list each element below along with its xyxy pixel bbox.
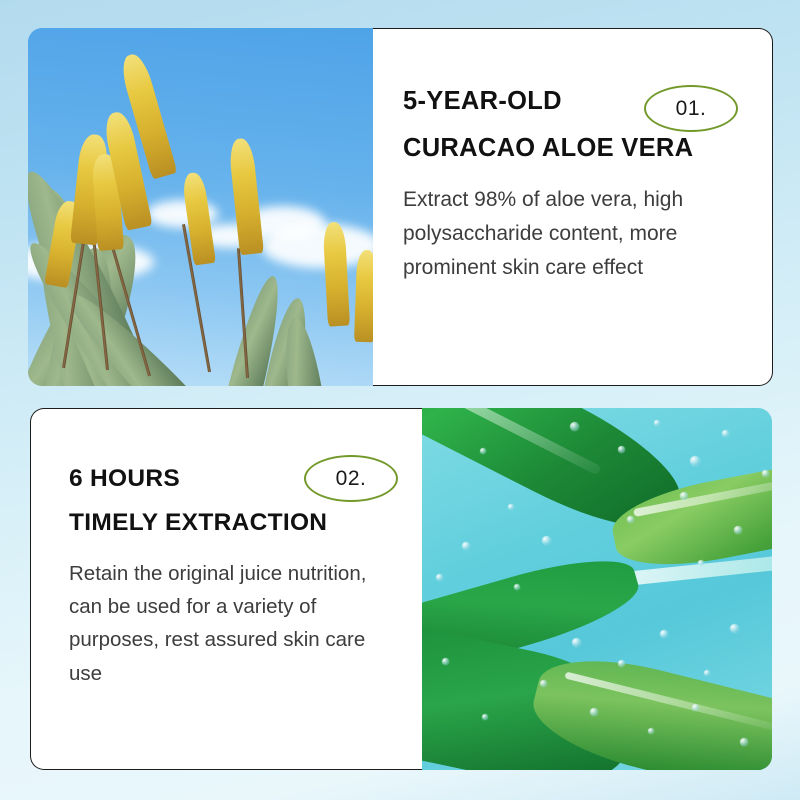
water-droplet xyxy=(540,680,547,687)
water-droplet xyxy=(722,430,729,437)
water-droplet xyxy=(590,708,598,716)
water-droplet xyxy=(618,446,625,453)
water-droplet xyxy=(482,714,488,720)
water-droplet xyxy=(572,638,581,647)
water-droplet xyxy=(442,658,449,665)
card-heading-line-2: TIMELY EXTRACTION xyxy=(69,511,402,536)
aloe-flower-spike xyxy=(354,250,373,343)
water-droplet xyxy=(762,470,769,477)
water-droplet xyxy=(480,448,486,454)
feature-card-01: 01. 5-YEAR-OLD CURACAO ALOE VERA Extract… xyxy=(28,28,773,386)
card-heading-line-2: CURACAO ALOE VERA xyxy=(403,136,738,162)
water-droplet xyxy=(704,670,710,676)
water-droplet xyxy=(654,420,660,426)
water-droplet xyxy=(618,660,625,667)
water-droplet xyxy=(740,738,748,746)
water-droplet xyxy=(730,624,739,633)
water-droplet xyxy=(627,516,634,523)
water-droplet xyxy=(690,456,700,466)
water-droplet xyxy=(734,526,742,534)
feature-text-panel-01: 01. 5-YEAR-OLD CURACAO ALOE VERA Extract… xyxy=(373,28,773,386)
step-number-badge: 02. xyxy=(304,455,398,502)
card-body-text: Extract 98% of aloe vera, high polysacch… xyxy=(403,183,733,285)
water-droplet xyxy=(542,536,551,545)
water-droplet xyxy=(680,492,688,500)
feature-text-panel-02: 02. 6 HOURS TIMELY EXTRACTION Retain the… xyxy=(30,408,422,770)
feature-card-02: 02. 6 HOURS TIMELY EXTRACTION Retain the… xyxy=(30,408,772,770)
water-droplet xyxy=(514,584,520,590)
water-droplet xyxy=(648,728,654,734)
water-droplet xyxy=(660,630,668,638)
water-droplet xyxy=(462,542,470,550)
water-droplet xyxy=(508,504,514,510)
water-droplet xyxy=(698,560,704,566)
step-number-badge: 01. xyxy=(644,85,738,132)
aloe-plants-photo xyxy=(28,28,373,386)
water-droplet xyxy=(436,574,443,581)
aloe-leaves-photo xyxy=(422,408,772,770)
card-body-text: Retain the original juice nutrition, can… xyxy=(69,557,374,690)
water-droplet xyxy=(570,422,579,431)
water-droplet xyxy=(692,704,699,711)
